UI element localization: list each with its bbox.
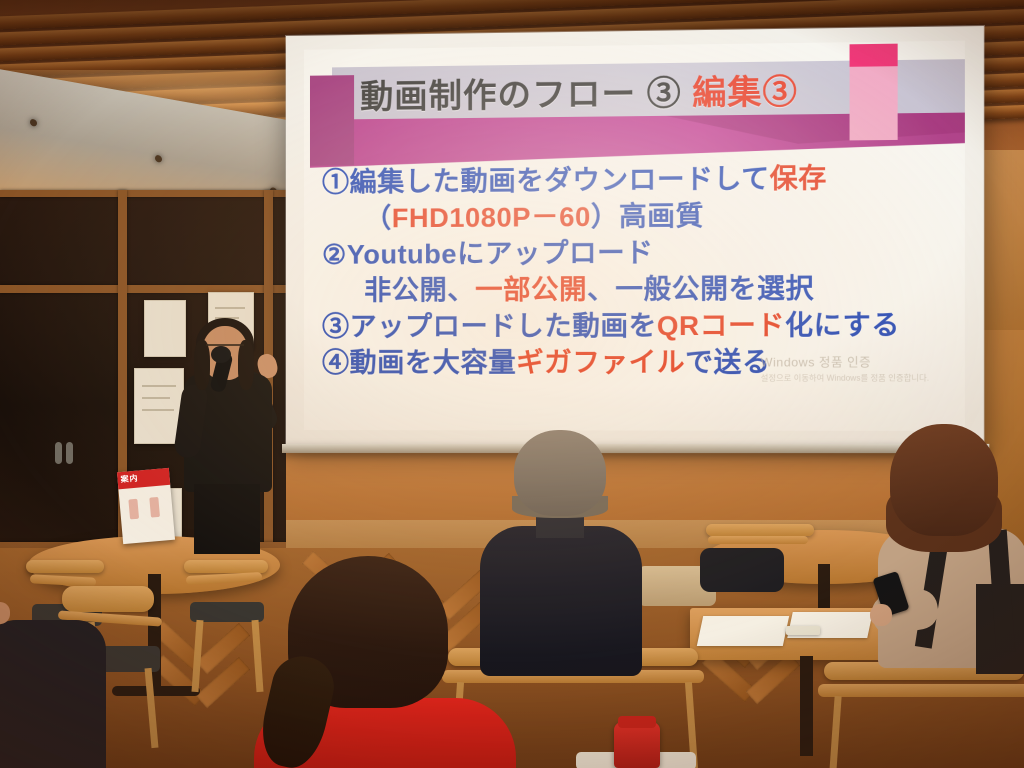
photo-vignette: [0, 0, 1024, 768]
screenshot-root: 動画制作のフロー ③ 編集③ ①編集した動画をダウンロードして保存（FHD108…: [0, 0, 1024, 768]
